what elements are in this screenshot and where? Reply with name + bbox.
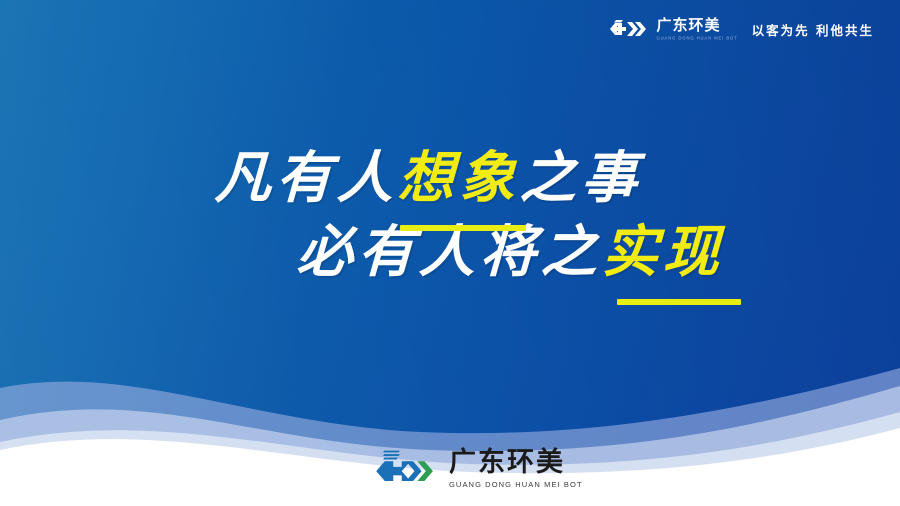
headline-accent-underline-2 — [617, 299, 741, 305]
header-brand-name-cn: 广东环美 — [656, 18, 737, 33]
headline-line1-after: 之事 — [519, 150, 643, 208]
footer-brand-name-cn: 广东环美 — [449, 449, 583, 476]
headline-line-2: 必有人将之 实现 — [0, 224, 900, 282]
footer-mark-chevron-blue — [406, 461, 422, 481]
headline-line1-accent: 想象 — [397, 150, 521, 208]
headline-line2-accent: 实现 — [601, 224, 725, 282]
header-chevron-mark-icon — [608, 18, 650, 40]
footer-chevron-mark-icon — [372, 446, 440, 492]
slide-header: 广东环美 GUANG DONG HUAN MEI BOT 以客为先 利他共生 — [608, 14, 874, 44]
footer-brand-name-en: GUANG DONG HUAN MEI BOT — [449, 481, 583, 489]
headline-accent-underline-1 — [400, 225, 526, 231]
footer-mark-h-shape — [376, 461, 410, 481]
header-tagline: 以客为先 利他共生 — [752, 20, 874, 39]
header-brand-names: 广东环美 GUANG DONG HUAN MEI BOT — [656, 18, 737, 40]
headline-line1-before: 凡有人 — [214, 150, 399, 208]
headline-block: 凡有人 想象 之事 必有人将之 实现 — [0, 150, 900, 282]
header-brand-name-en: GUANG DONG HUAN MEI BOT — [656, 36, 737, 41]
footer-brand-names: 广东环美 GUANG DONG HUAN MEI BOT — [449, 449, 583, 489]
header-brand-logo: 广东环美 GUANG DONG HUAN MEI BOT — [608, 18, 737, 40]
footer-brand-logo: 广东环美 GUANG DONG HUAN MEI BOT — [372, 446, 583, 492]
headline-line-1: 凡有人 想象 之事 — [0, 150, 900, 208]
headline-line2-before: 必有人将之 — [296, 224, 603, 282]
presentation-slide: 广东环美 GUANG DONG HUAN MEI BOT 以客为先 利他共生 凡… — [0, 0, 900, 506]
